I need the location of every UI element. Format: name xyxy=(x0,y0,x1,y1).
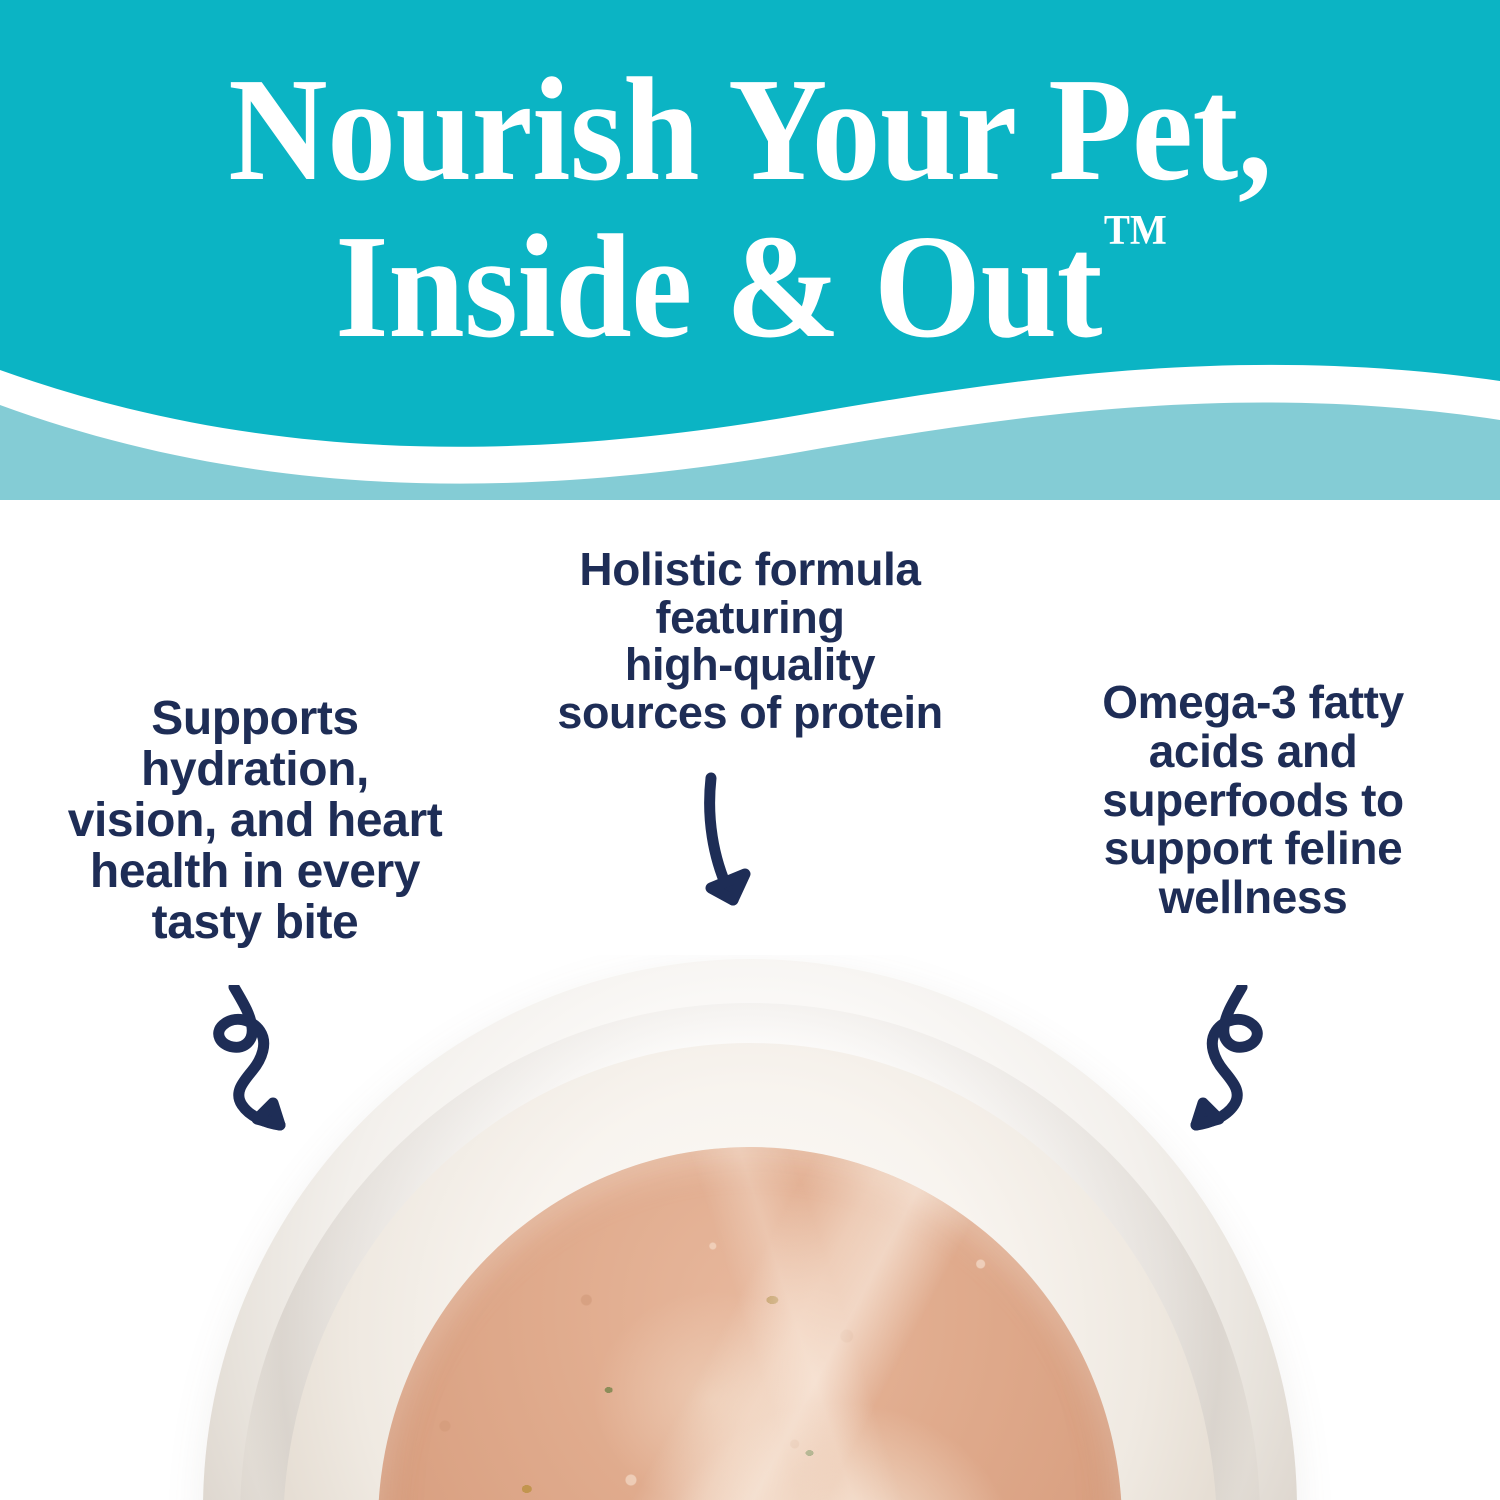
arrowhead xyxy=(257,1103,280,1125)
callout-right-line-3: superfoods to xyxy=(1018,776,1488,825)
callout-center: Holistic formula featuring high-quality … xyxy=(500,545,1000,737)
curly-arrow-down-right-icon xyxy=(168,985,358,1165)
promo-graphic: Nourish Your Pet, Inside & OutTM Support… xyxy=(0,0,1500,1500)
callout-center-line-3: high-quality xyxy=(500,641,1000,689)
header-banner xyxy=(0,0,1500,500)
curved-arrow-down-icon xyxy=(655,770,805,945)
callout-left: Supports hydration, vision, and heart he… xyxy=(10,694,500,948)
callout-right-line-1: Omega-3 fatty xyxy=(1018,678,1488,727)
wave-teal-shape xyxy=(0,0,1500,447)
salmon-pate-loaf xyxy=(378,1147,1122,1500)
callout-left-line-5: tasty bite xyxy=(10,898,500,949)
callout-right-line-2: acids and xyxy=(1018,727,1488,776)
callout-center-line-1: Holistic formula xyxy=(500,545,1000,594)
callout-center-line-2: featuring xyxy=(500,594,1000,642)
callout-left-line-4: health in every xyxy=(10,847,500,898)
callout-right-line-4: support feline xyxy=(1018,824,1488,873)
curly-arrow-down-left-icon xyxy=(1118,985,1308,1165)
callout-right: Omega-3 fatty acids and superfoods to su… xyxy=(1018,678,1488,922)
arrowhead xyxy=(711,874,745,900)
callout-right-line-5: wellness xyxy=(1018,873,1488,922)
callout-left-line-1: Supports xyxy=(10,694,500,745)
callout-left-line-3: vision, and heart xyxy=(10,796,500,847)
callout-center-line-4: sources of protein xyxy=(500,689,1000,737)
callout-left-line-2: hydration, xyxy=(10,745,500,796)
